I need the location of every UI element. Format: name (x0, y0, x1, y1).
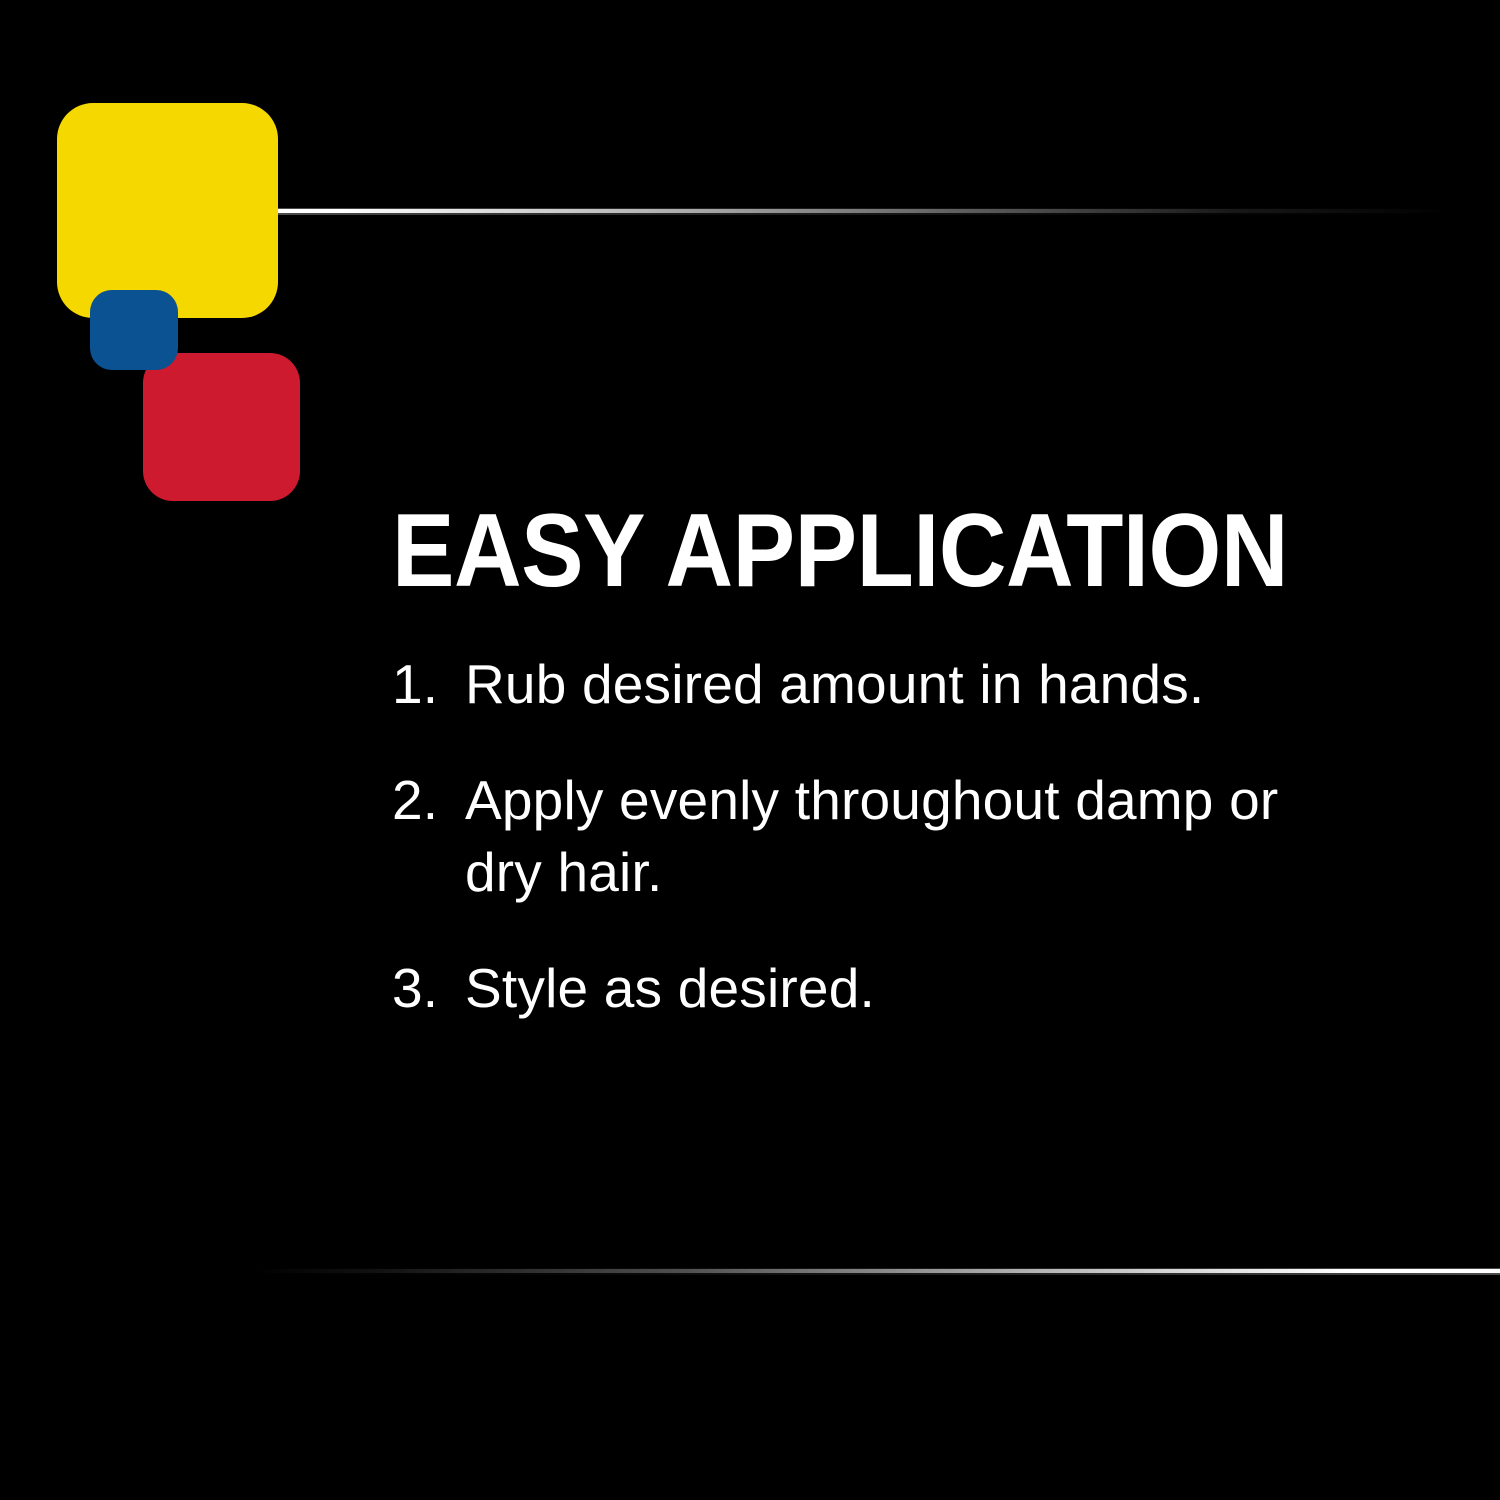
step-number: 1. (392, 648, 465, 720)
list-item: 2. Apply evenly throughout damp or dry h… (392, 764, 1412, 908)
blue-square-icon (90, 290, 178, 370)
step-number: 3. (392, 952, 465, 1024)
instruction-list: 1. Rub desired amount in hands. 2. Apply… (392, 648, 1412, 1024)
step-text: Rub desired amount in hands. (465, 648, 1365, 720)
step-number: 2. (392, 764, 465, 836)
product-info-panel: EASY APPLICATION 1. Rub desired amount i… (0, 0, 1500, 1500)
top-divider-rule (268, 208, 1448, 215)
list-item: 3. Style as desired. (392, 952, 1412, 1024)
step-text: Style as desired. (465, 952, 1365, 1024)
bottom-divider-rule (255, 1268, 1500, 1275)
step-text: Apply evenly throughout damp or dry hair… (465, 764, 1365, 908)
content-column: EASY APPLICATION 1. Rub desired amount i… (392, 500, 1412, 1024)
yellow-square-icon (57, 103, 278, 318)
bottom-divider-core (255, 1269, 1500, 1273)
top-divider-core (268, 209, 1448, 213)
list-item: 1. Rub desired amount in hands. (392, 648, 1412, 720)
red-square-icon (143, 353, 300, 501)
page-title: EASY APPLICATION (392, 500, 1310, 602)
